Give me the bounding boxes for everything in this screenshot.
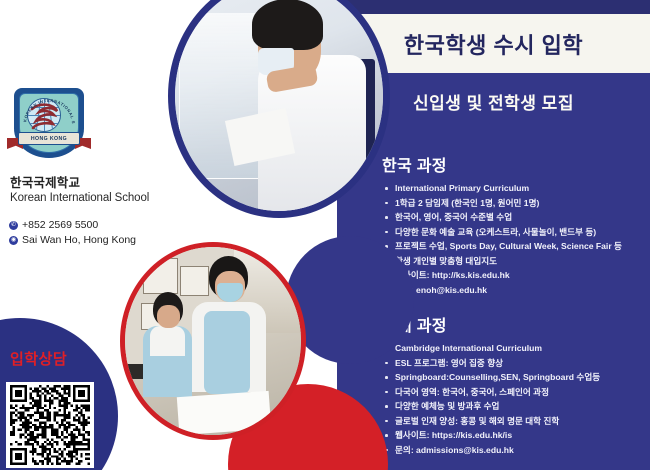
contact-address-label: Sai Wan Ho, Hong Kong (22, 233, 136, 248)
school-logo: KOREAN INTERNATIONAL SCHOOL HONG KONG (8, 88, 90, 172)
artwork-frame (180, 266, 210, 296)
course-item-label: 웹사이트: http://ks.kis.edu.hk (395, 270, 510, 280)
school-crest-icon: KOREAN INTERNATIONAL SCHOOL HONG KONG (14, 88, 84, 162)
course-title-korea: 한국 과정 (382, 152, 650, 176)
course-item-label: 프로젝트 수업, Sports Day, Cultural Week, Scie… (395, 241, 622, 251)
admission-qr-code[interactable] (6, 382, 94, 468)
course-item: 다양한 예체능 및 방과후 수업 (382, 399, 650, 414)
drawing-sheet-shape (177, 390, 271, 434)
course-item-label: 웹사이트: https://kis.edu.hk/is (395, 430, 512, 440)
course-item-label: 다양한 예체능 및 방과후 수업 (395, 401, 499, 411)
panel-top-bar (337, 0, 650, 14)
bullet-icon (385, 420, 388, 423)
crest-ribbon: HONG KONG (18, 132, 80, 145)
poster-subheadline: 신입생 및 전학생 모집 (413, 89, 574, 114)
course-item: 1학급 2 담임제 (한국인 1명, 원어민 1명) (382, 196, 650, 211)
admission-badge: 입학상담 (10, 348, 67, 369)
course-item-website[interactable]: 웹사이트: https://kis.edu.hk/is (382, 428, 650, 443)
poster-headline: 한국학생 수시 입학 (404, 28, 583, 60)
student-hair-shape (252, 0, 323, 50)
course-item: 글로벌 인재 양성: 홍콩 및 해외 명문 대학 진학 (382, 414, 650, 429)
course-item: 프로젝트 수업, Sports Day, Cultural Week, Scie… (382, 239, 650, 254)
course-item: 학생 개인별 맞춤형 대입지도 (382, 254, 650, 269)
swirl-icon (30, 100, 60, 130)
photo-science-lab-image (175, 0, 383, 211)
course-item-email[interactable]: 문의: enoh@kis.edu.hk (382, 283, 650, 298)
course-list-korea: International Primary Curriculum 1학급 2 담… (382, 181, 650, 297)
bullet-icon (385, 216, 388, 219)
course-list-international: Cambridge International Curriculum ESL 프… (382, 341, 650, 457)
course-item-website[interactable]: 웹사이트: http://ks.kis.edu.hk (382, 268, 650, 283)
bullet-icon (385, 187, 388, 190)
course-item-label: Cambridge International Curriculum (395, 343, 542, 353)
crest-ribbon-label: HONG KONG (31, 136, 67, 142)
course-item-label: 글로벌 인재 양성: 홍콩 및 해외 명문 대학 진학 (395, 416, 559, 426)
course-block-international: 국제 과정 Cambridge International Curriculum… (382, 312, 650, 457)
course-item: ESL 프로그램: 영어 집중 향상 (382, 356, 650, 371)
course-item: 다국어 영역: 한국어, 중국어, 스페인어 과정 (382, 385, 650, 400)
photo-science-lab (168, 0, 390, 218)
bullet-icon (385, 231, 388, 234)
student-front-apron-shape (204, 311, 250, 394)
face-mask-shape (217, 283, 243, 302)
student-back-face-shape (157, 305, 180, 328)
admissions-poster: 한국학생 수시 입학 신입생 및 전학생 모집 한국 과정 Internatio… (0, 0, 650, 470)
course-item-label: 다국어 영역: 한국어, 중국어, 스페인어 과정 (395, 387, 549, 397)
student-back-shirt-shape (150, 326, 185, 356)
course-item-label: 다양한 문화 예술 교육 (오케스트라, 사물놀이, 밴드부 등) (395, 227, 596, 237)
bullet-icon (385, 376, 388, 379)
qr-code-icon (9, 385, 91, 465)
course-item: Springboard:Counselling,SEN, Springboard… (382, 370, 650, 385)
bullet-icon (385, 405, 388, 408)
course-block-korea: 한국 과정 International Primary Curriculum 1… (382, 152, 650, 297)
contact-phone-label: +852 2569 5500 (22, 218, 98, 233)
photo-art-class-image (125, 247, 301, 435)
bullet-icon (385, 362, 388, 365)
artwork-frame (143, 258, 178, 294)
course-item: 다양한 문화 예술 교육 (오케스트라, 사물놀이, 밴드부 등) (382, 225, 650, 240)
course-item-label: 학생 개인별 맞춤형 대입지도 (395, 256, 497, 266)
course-item-label: 한국어, 영어, 중국어 수준별 수업 (395, 212, 512, 222)
contact-phone-row[interactable]: ✆ +852 2569 5500 (9, 218, 229, 233)
course-item-label: International Primary Curriculum (395, 183, 529, 193)
course-item-email[interactable]: 문의: admissions@kis.edu.hk (382, 443, 650, 458)
course-item-label: 문의: admissions@kis.edu.hk (395, 445, 514, 455)
course-title-international: 국제 과정 (382, 312, 650, 336)
course-item: International Primary Curriculum (382, 181, 650, 196)
course-item-label: Springboard:Counselling,SEN, Springboard… (395, 372, 600, 382)
bullet-icon (385, 202, 388, 205)
phone-icon: ✆ (9, 221, 18, 230)
photo-art-class (120, 242, 306, 440)
course-item-label: ESL 프로그램: 영어 집중 향상 (395, 358, 503, 368)
course-item: 한국어, 영어, 중국어 수준별 수업 (382, 210, 650, 225)
course-item: Cambridge International Curriculum (382, 341, 650, 356)
bullet-icon (385, 391, 388, 394)
location-pin-icon: ◉ (9, 236, 18, 245)
bullet-icon (385, 434, 388, 437)
course-item-label: 1학급 2 담임제 (한국인 1명, 원어민 1명) (395, 198, 539, 208)
